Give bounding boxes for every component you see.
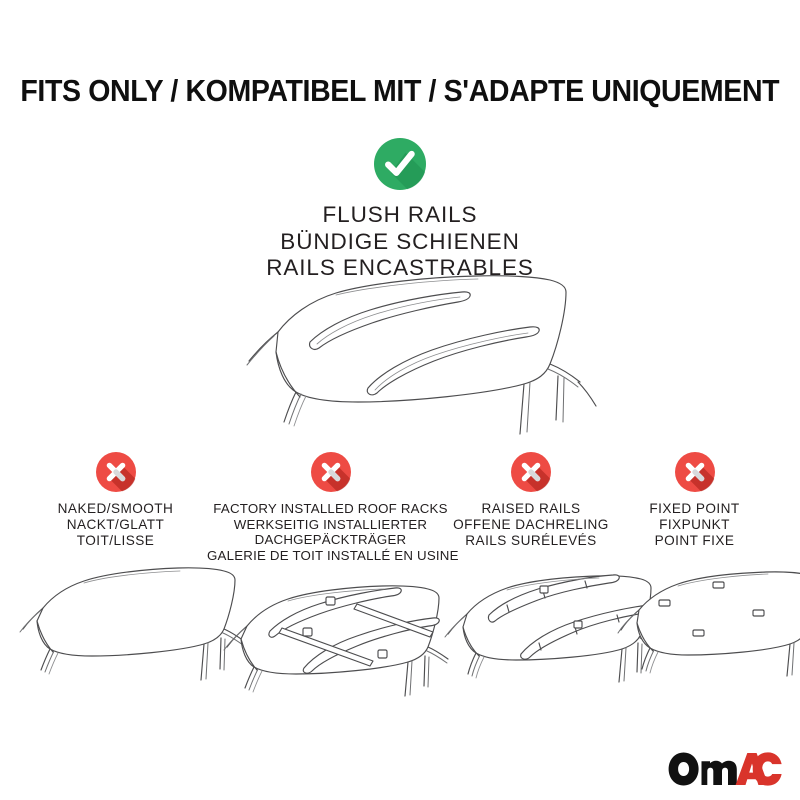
car-roof-naked-smooth-illustration [8,562,223,690]
incompatible-item-factory-roof-racks: FACTORY INSTALLED ROOF RACKS WERKSEITIG … [207,452,454,696]
incompatible-labels: RAISED RAILS OFFENE DACHRELING RAILS SUR… [435,501,627,550]
label-line-2: NACKT/GLATT [8,517,223,533]
incompatible-section: NAKED/SMOOTH NACKT/GLATT TOIT/LISSE [0,452,800,692]
incompatible-item-fixed-point: FIXED POINT FIXPUNKT POINT FIXE [613,452,776,688]
car-roof-fixed-point-illustration [613,560,776,688]
car-roof-raised-rails-illustration [435,560,627,688]
label-line-3: POINT FIXE [613,533,776,549]
label-line-3: DACHGEPÄCKTRÄGER [207,532,454,548]
incompatible-labels: FACTORY INSTALLED ROOF RACKS WERKSEITIG … [207,501,454,563]
compatible-label-line-2: BÜNDIGE SCHIENEN [0,229,800,256]
label-line-2: WERKSEITIG INSTALLIERTER [207,517,454,533]
incompatible-labels: NAKED/SMOOTH NACKT/GLATT TOIT/LISSE [8,501,223,550]
x-circle-icon [96,452,136,492]
page-title: FITS ONLY / KOMPATIBEL MIT / S'ADAPTE UN… [21,76,780,107]
label-line-1: NAKED/SMOOTH [8,501,223,517]
compatible-section: FLUSH RAILS BÜNDIGE SCHIENEN RAILS ENCAS… [0,138,800,282]
label-line-1: FIXED POINT [613,501,776,517]
label-line-1: RAISED RAILS [435,501,627,517]
label-line-3: RAILS SURÉLEVÉS [435,533,627,549]
check-circle-icon [374,138,426,190]
x-circle-icon [511,452,551,492]
label-line-3: TOIT/LISSE [8,533,223,549]
label-line-2: FIXPUNKT [613,517,776,533]
label-line-2: OFFENE DACHRELING [435,517,627,533]
car-roof-with-flush-rails-illustration [218,268,604,440]
incompatible-item-raised-rails: RAISED RAILS OFFENE DACHRELING RAILS SUR… [435,452,627,688]
compatible-label-line-1: FLUSH RAILS [0,202,800,229]
header: FITS ONLY / KOMPATIBEL MIT / S'ADAPTE UN… [0,0,800,106]
incompatible-item-naked-smooth: NAKED/SMOOTH NACKT/GLATT TOIT/LISSE [8,452,223,690]
label-line-1: FACTORY INSTALLED ROOF RACKS [207,501,454,517]
x-circle-icon [675,452,715,492]
label-line-4: GALERIE DE TOIT INSTALLÉ EN USINE [207,548,454,564]
incompatible-labels: FIXED POINT FIXPUNKT POINT FIXE [613,501,776,550]
omac-logo [668,752,782,786]
car-roof-factory-roof-racks-illustration [207,568,454,696]
x-circle-icon [311,452,351,492]
